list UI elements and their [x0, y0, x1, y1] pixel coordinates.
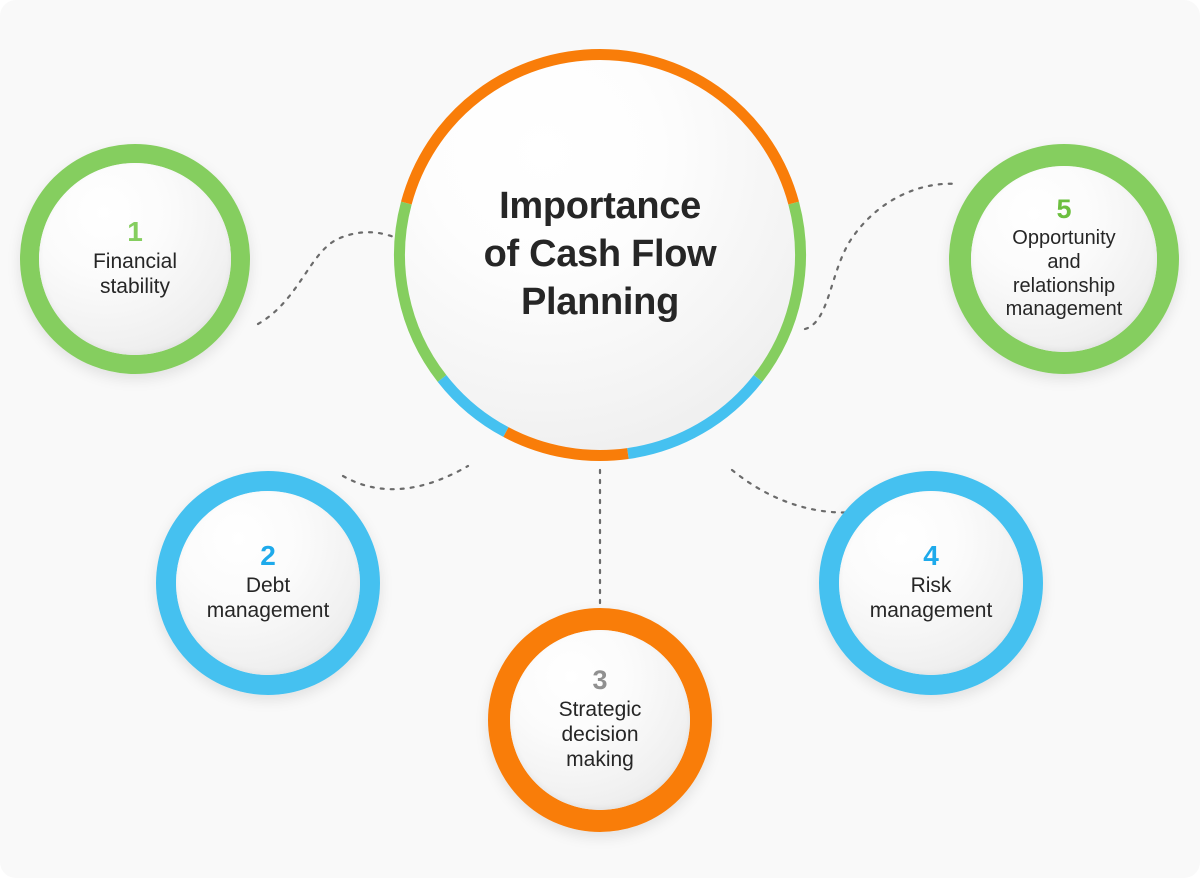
node-number-strategic-decision-making: 3: [592, 667, 607, 694]
node-number-opportunity-and-relationship-management: 5: [1056, 196, 1071, 223]
node-number-debt-management: 2: [260, 542, 276, 570]
node-number-financial-stability: 1: [127, 218, 143, 246]
connector-center-to-4: [732, 470, 856, 513]
center-ring-green-right: [758, 203, 801, 378]
node-financial-stability[interactable]: 1Financial stability: [20, 144, 250, 374]
center-ring-orange-bottom: [506, 432, 628, 455]
node-label-strategic-decision-making: Strategic decision making: [559, 698, 642, 772]
connector-center-to-1: [258, 232, 394, 324]
infographic-canvas: 1Financial stability2Debt management3Str…: [0, 0, 1200, 878]
node-risk-management[interactable]: 4Risk management: [819, 471, 1043, 695]
center-ring-blue-bottom-left: [442, 378, 506, 432]
node-opportunity-and-relationship-management[interactable]: 5Opportunity and relationship management: [949, 144, 1179, 374]
node-content-financial-stability: 1Financial stability: [5, 218, 265, 300]
node-label-risk-management: Risk management: [870, 574, 993, 624]
node-label-debt-management: Debt management: [207, 574, 330, 624]
center-node[interactable]: Importance of Cash Flow Planning: [390, 45, 810, 465]
node-content-opportunity-and-relationship-management: 5Opportunity and relationship management: [934, 196, 1194, 321]
node-label-opportunity-and-relationship-management: Opportunity and relationship management: [1006, 227, 1123, 321]
center-title: Importance of Cash Flow Planning: [484, 183, 717, 327]
node-content-strategic-decision-making: 3Strategic decision making: [473, 667, 727, 772]
center-ring-orange-top: [406, 55, 793, 204]
node-content-risk-management: 4Risk management: [804, 542, 1058, 624]
node-strategic-decision-making[interactable]: 3Strategic decision making: [488, 608, 712, 832]
center-ring-blue-bottom-right: [628, 378, 758, 453]
node-label-financial-stability: Financial stability: [93, 250, 177, 300]
node-content-debt-management: 2Debt management: [141, 542, 395, 624]
connector-center-to-2: [343, 466, 468, 489]
node-debt-management[interactable]: 2Debt management: [156, 471, 380, 695]
center-ring-green-left: [400, 203, 443, 378]
node-number-risk-management: 4: [923, 542, 939, 570]
